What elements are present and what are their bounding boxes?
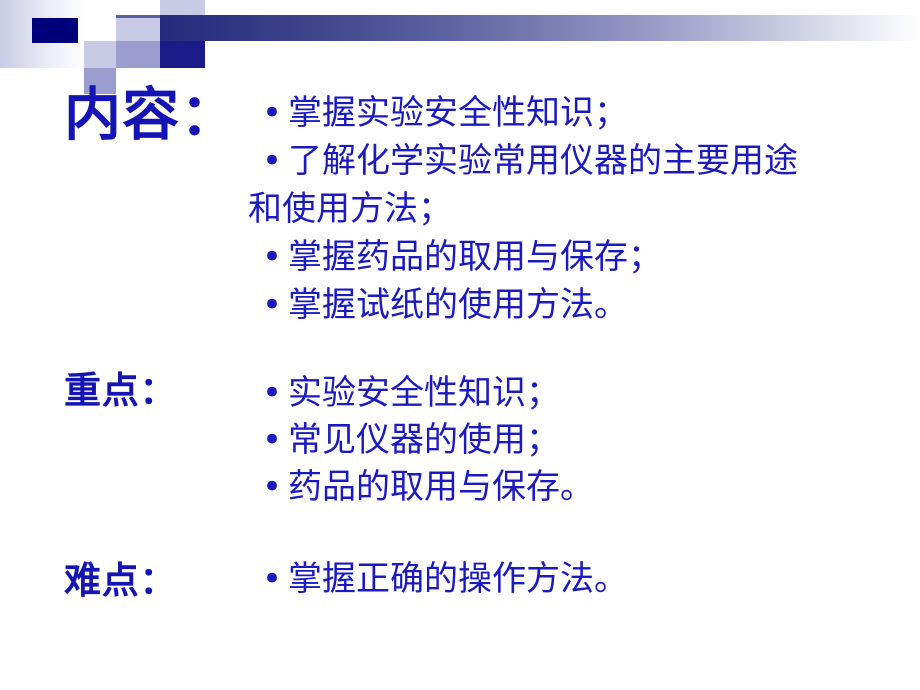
list-item: •了解化学实验常用仪器的主要用途: [262, 144, 798, 178]
section-lines-content: •掌握实验安全性知识； •了解化学实验常用仪器的主要用途 和使用方法； •掌握药…: [262, 96, 798, 336]
list-item-text: 和使用方法；: [248, 189, 452, 229]
list-item-text: 掌握实验安全性知识；: [288, 93, 628, 133]
list-item: •掌握试纸的使用方法。: [262, 288, 798, 322]
section-label-key-points: 重点：: [64, 372, 177, 409]
bullet-icon: •: [262, 376, 288, 410]
list-item-text: 常见仪器的使用；: [288, 420, 560, 460]
bullet-icon: •: [262, 562, 288, 596]
list-item-continuation: 和使用方法；: [248, 192, 798, 226]
list-item-text: 药品的取用与保存。: [288, 467, 594, 507]
list-item: •掌握正确的操作方法。: [262, 562, 628, 596]
list-item: •掌握实验安全性知识；: [262, 96, 798, 130]
list-item: •药品的取用与保存。: [262, 470, 594, 504]
list-item: •掌握药品的取用与保存；: [262, 240, 798, 274]
list-item-text: 掌握正确的操作方法。: [288, 559, 628, 599]
slide-content: 内容： •掌握实验安全性知识； •了解化学实验常用仪器的主要用途 和使用方法； …: [0, 0, 920, 690]
list-item: •常见仪器的使用；: [262, 423, 594, 457]
section-lines-key-points: •实验安全性知识； •常见仪器的使用； •药品的取用与保存。: [262, 376, 594, 517]
section-lines-difficult-points: •掌握正确的操作方法。: [262, 562, 628, 596]
section-label-content: 内容：: [64, 86, 238, 143]
list-item-text: 掌握试纸的使用方法。: [288, 285, 628, 325]
list-item: •实验安全性知识；: [262, 376, 594, 410]
bullet-icon: •: [262, 288, 288, 322]
bullet-icon: •: [262, 240, 288, 274]
slide-canvas: 内容： •掌握实验安全性知识； •了解化学实验常用仪器的主要用途 和使用方法； …: [0, 0, 920, 690]
list-item-text: 了解化学实验常用仪器的主要用途: [288, 141, 798, 181]
section-label-difficult-points: 难点：: [64, 562, 177, 599]
bullet-icon: •: [262, 470, 288, 504]
bullet-icon: •: [262, 96, 288, 130]
list-item-text: 掌握药品的取用与保存；: [288, 237, 662, 277]
bullet-icon: •: [262, 144, 288, 178]
list-item-text: 实验安全性知识；: [288, 373, 560, 413]
bullet-icon: •: [262, 423, 288, 457]
